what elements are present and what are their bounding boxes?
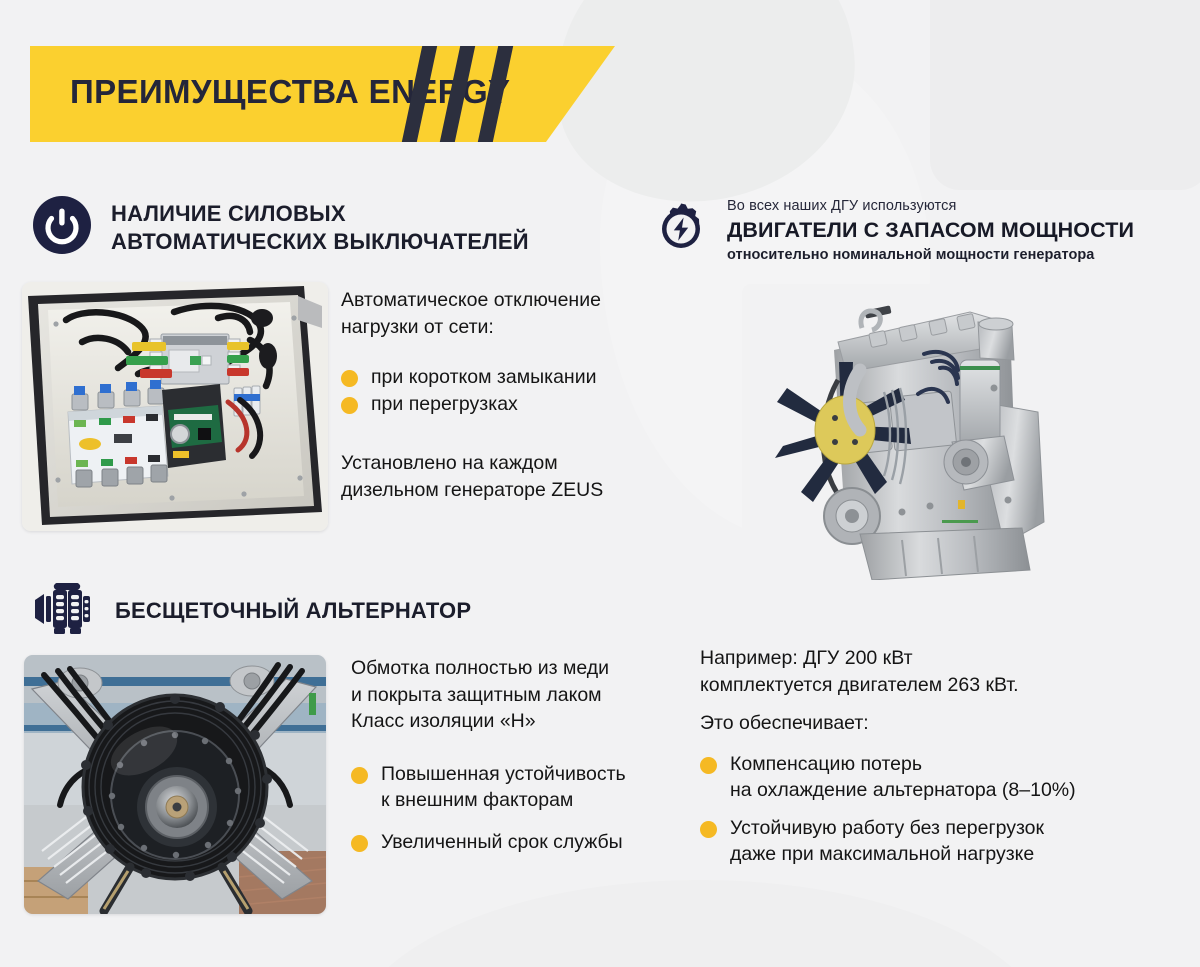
list-item-label: Увеличенный срок службы: [381, 830, 623, 856]
list-item: при коротком замыкании: [341, 365, 671, 391]
bullet-dot-icon: [700, 757, 717, 774]
section-title-breakers: НАЛИЧИЕ СИЛОВЫХ АВТОМАТИЧЕСКИХ ВЫКЛЮЧАТЕ…: [111, 200, 529, 255]
bullet-dot-icon: [341, 370, 358, 387]
diesel-engine-photo: [742, 284, 1074, 580]
list-item: Устойчивую работу без перегрузок даже пр…: [700, 816, 1170, 868]
list-item-label: при коротком замыкании: [371, 365, 597, 391]
list-item: Компенсацию потерь на охлаждение альтерн…: [700, 752, 1170, 804]
section-title-alternator: БЕСЩЕТОЧНЫЙ АЛЬТЕРНАТОР: [115, 597, 471, 625]
alternator-intro-text: Обмотка полностью из меди и покрыта защи…: [351, 655, 681, 735]
bullet-dot-icon: [700, 821, 717, 838]
bullet-dot-icon: [351, 767, 368, 784]
gear-lightning-icon: [653, 201, 709, 262]
infographic-page: ПРЕИМУЩЕСТВА ENERGY НАЛИЧИЕ СИЛОВЫХ АВТО…: [0, 0, 1200, 967]
background-shape-top-right: [930, 0, 1200, 190]
electrical-panel-photo: [22, 282, 328, 531]
alternator-bullet-list: Повышенная устойчивость к внешним фактор…: [351, 762, 691, 872]
list-item-label: Устойчивую работу без перегрузок даже пр…: [730, 816, 1044, 868]
engines-heading-text-group: Во всех наших ДГУ используются ДВИГАТЕЛИ…: [727, 197, 1134, 265]
header-banner: ПРЕИМУЩЕСТВА ENERGY: [30, 46, 615, 142]
engines-provides-label: Это обеспечивает:: [700, 710, 1120, 737]
list-item: Увеличенный срок службы: [351, 830, 691, 856]
bullet-dot-icon: [341, 397, 358, 414]
list-item-label: Компенсацию потерь на охлаждение альтерн…: [730, 752, 1076, 804]
engines-eyebrow: Во всех наших ДГУ используются: [727, 197, 1134, 216]
list-item-label: при перегрузках: [371, 392, 518, 418]
section-heading-engines: Во всех наших ДГУ используются ДВИГАТЕЛИ…: [653, 197, 1134, 265]
background-shape-bottom: [350, 880, 1050, 967]
engines-bullet-list: Компенсацию потерь на охлаждение альтерн…: [700, 752, 1170, 880]
breakers-footer-text: Установлено на каждом дизельном генерато…: [341, 450, 671, 503]
list-item: Повышенная устойчивость к внешним фактор…: [351, 762, 691, 814]
brushless-alternator-photo: [24, 655, 326, 914]
list-item: при перегрузках: [341, 392, 671, 418]
section-heading-breakers: НАЛИЧИЕ СИЛОВЫХ АВТОМАТИЧЕСКИХ ВЫКЛЮЧАТЕ…: [33, 196, 529, 259]
breakers-intro-text: Автоматическое отключение нагрузки от се…: [341, 287, 671, 340]
breakers-bullet-list: при коротком замыкании при перегрузках: [341, 365, 671, 419]
background-shape-top-left: [538, 0, 871, 220]
section-heading-alternator: БЕСЩЕТОЧНЫЙ АЛЬТЕРНАТОР: [33, 578, 471, 643]
bullet-dot-icon: [351, 835, 368, 852]
alternator-icon: [33, 578, 93, 643]
list-item-label: Повышенная устойчивость к внешним фактор…: [381, 762, 626, 814]
engines-subnote: относительно номинальной мощности генера…: [727, 246, 1134, 265]
power-button-icon: [33, 196, 91, 259]
banner-stripes-decoration: [402, 46, 537, 142]
engines-example-text: Например: ДГУ 200 кВт комплектуется двиг…: [700, 645, 1120, 698]
section-title-engines: ДВИГАТЕЛИ С ЗАПАСОМ МОЩНОСТИ: [727, 218, 1134, 243]
